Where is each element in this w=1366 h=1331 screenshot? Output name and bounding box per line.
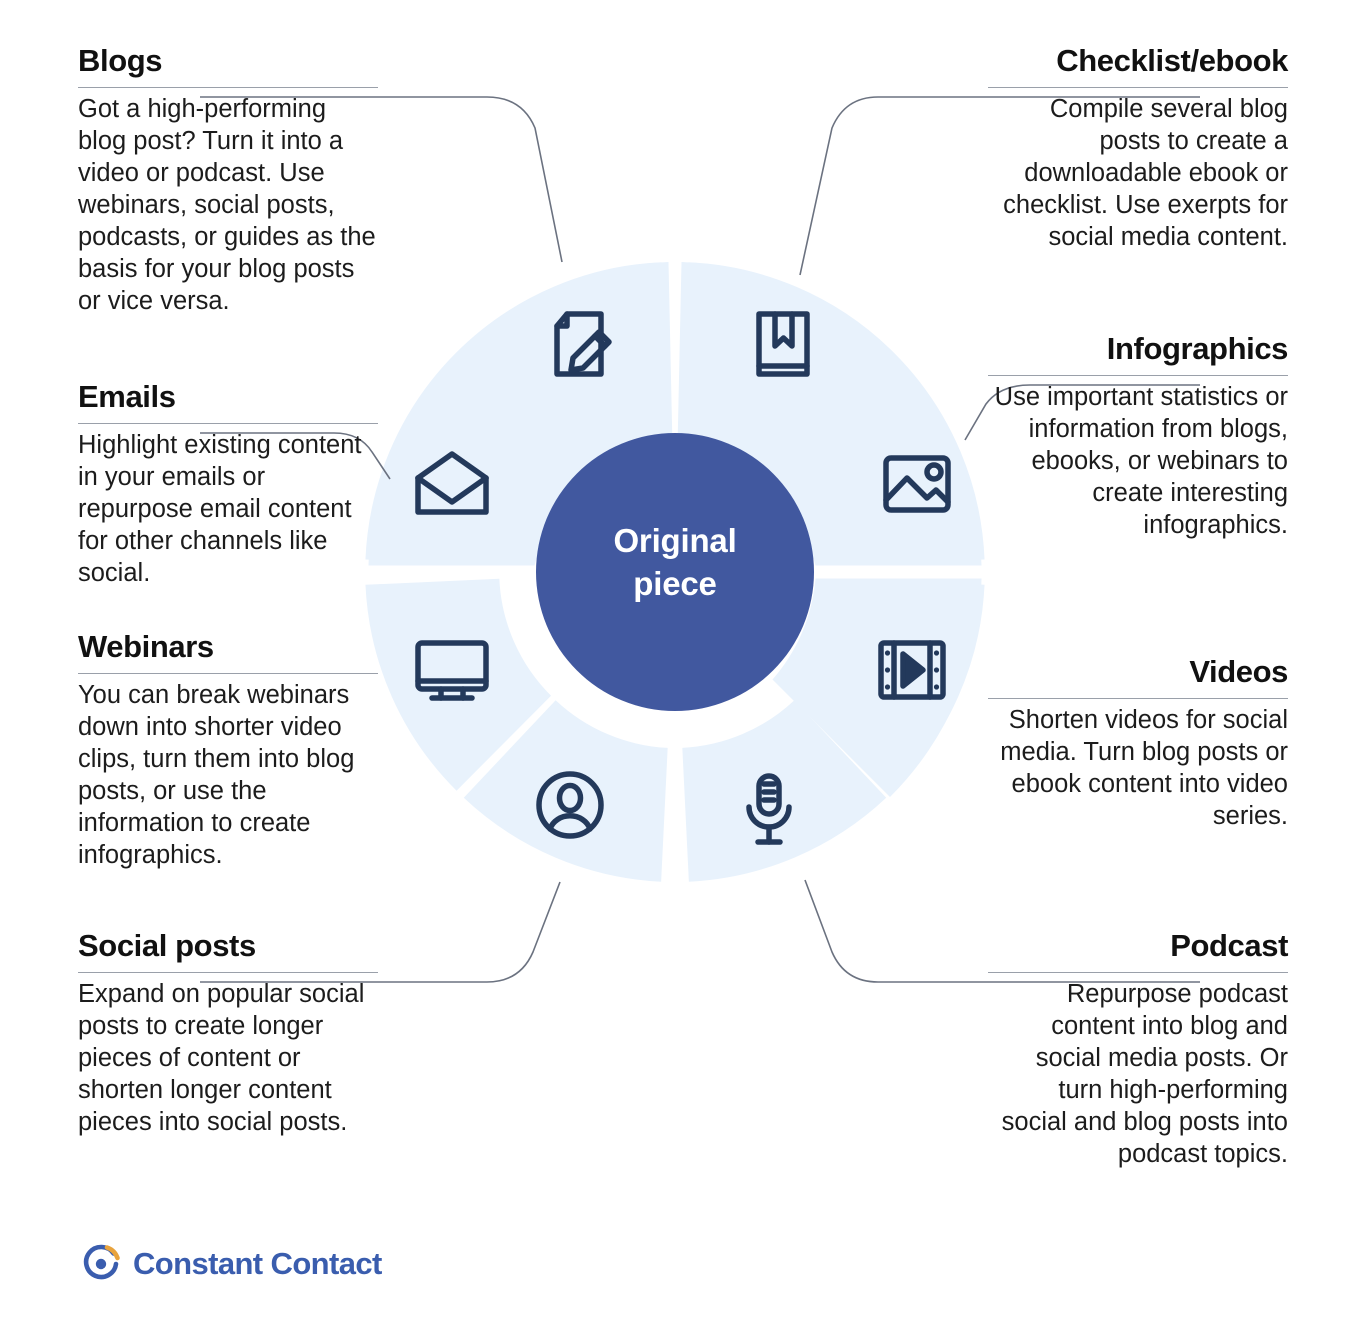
section-title-social-posts: Social posts [78, 930, 378, 963]
monitor-screen-icon [418, 643, 486, 698]
section-body-checklist-ebook: Compile several blog posts to create a d… [988, 93, 1288, 254]
video-film-icon [881, 643, 943, 697]
section-title-checklist-ebook: Checklist/ebook [988, 45, 1288, 78]
section-blogs: Blogs Got a high-performing blog post? T… [78, 45, 378, 317]
image-picture-icon [886, 458, 948, 510]
envelope-mail-icon [418, 454, 486, 512]
section-rule-emails [78, 423, 378, 424]
section-rule-videos [988, 698, 1288, 699]
section-body-social-posts: Expand on popular social posts to create… [78, 978, 378, 1139]
section-body-podcast: Repurpose podcast content into blog and … [988, 978, 1288, 1171]
person-avatar-icon [539, 774, 601, 836]
section-infographics: Infographics Use important statistics or… [988, 333, 1288, 541]
section-body-blogs: Got a high-performing blog post? Turn it… [78, 93, 378, 318]
logo-wordmark: Constant Contact [133, 1246, 382, 1282]
section-body-infographics: Use important statistics or information … [988, 381, 1288, 542]
section-title-emails: Emails [78, 381, 378, 414]
section-webinars: Webinars You can break webinars down int… [78, 631, 378, 871]
document-edit-icon [557, 314, 609, 374]
section-title-webinars: Webinars [78, 631, 378, 664]
hub-label: Original piece [545, 520, 805, 606]
arc-videos [686, 749, 841, 815]
hub-label-line2: piece [545, 563, 805, 606]
section-checklist-ebook: Checklist/ebook Compile several blog pos… [988, 45, 1288, 253]
segment-infographics [773, 579, 982, 798]
section-title-blogs: Blogs [78, 45, 378, 78]
section-body-webinars: You can break webinars down into shorter… [78, 679, 378, 872]
arc-podcast [510, 749, 665, 815]
section-rule-checklist-ebook [988, 87, 1288, 88]
constant-contact-mark-icon [80, 1243, 122, 1285]
section-rule-infographics [988, 375, 1288, 376]
section-rule-webinars [78, 673, 378, 674]
infographic-page: Blogs Got a high-performing blog post? T… [0, 0, 1366, 1331]
section-videos: Videos Shorten videos for social media. … [988, 656, 1288, 832]
section-rule-social-posts [78, 972, 378, 973]
arc-social-posts [432, 582, 503, 743]
section-title-podcast: Podcast [988, 930, 1288, 963]
constant-contact-logo: Constant Contact [80, 1243, 382, 1285]
section-title-infographics: Infographics [988, 333, 1288, 366]
section-body-emails: Highlight existing content in your email… [78, 429, 378, 590]
section-rule-blogs [78, 87, 378, 88]
arc-infographics [846, 582, 917, 743]
section-rule-podcast [988, 972, 1288, 973]
section-social-posts: Social posts Expand on popular social po… [78, 930, 378, 1138]
microphone-icon [749, 776, 789, 842]
section-body-videos: Shorten videos for social media. Turn bl… [988, 704, 1288, 833]
hub-label-line1: Original [545, 520, 805, 563]
section-title-videos: Videos [988, 656, 1288, 689]
section-podcast: Podcast Repurpose podcast content into b… [988, 930, 1288, 1170]
section-emails: Emails Highlight existing content in you… [78, 381, 378, 589]
bookmark-book-icon [759, 314, 807, 374]
